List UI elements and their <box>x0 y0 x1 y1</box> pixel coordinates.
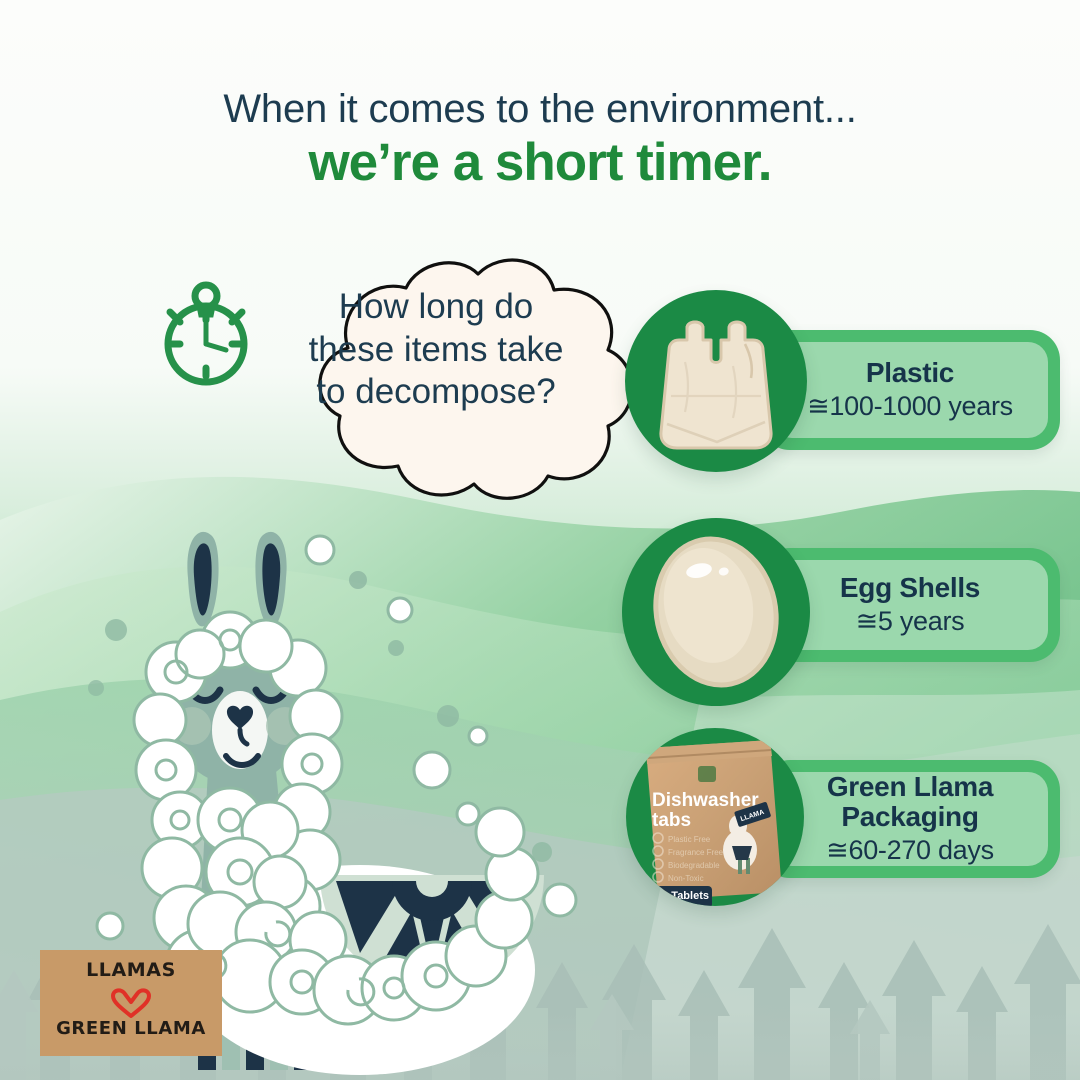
svg-text:Plastic Free: Plastic Free <box>668 835 711 844</box>
sign-text-top: LLAMAS <box>40 959 222 981</box>
svg-text:Fragrance Free: Fragrance Free <box>668 848 724 857</box>
infographic-canvas: When it comes to the environment... we’r… <box>0 0 1080 1080</box>
item-duration: ≅60-270 days <box>826 835 994 866</box>
bubble-line-2: these items take <box>236 329 636 372</box>
egg-icon <box>622 518 810 706</box>
dishwasher-tabs-pouch-icon: Dishwasher tabs Plastic Free Fragrance F… <box>626 728 804 906</box>
item-card-inner: Plastic ≅100-1000 years <box>772 342 1048 438</box>
item-title: Plastic <box>866 358 954 388</box>
thought-bubble: How long do these items take to decompos… <box>236 258 636 498</box>
thought-bubble-text: How long do these items take to decompos… <box>236 286 636 414</box>
item-title: Egg Shells <box>840 573 980 603</box>
svg-text:21.9 OZ / 625 G: 21.9 OZ / 625 G <box>656 903 692 906</box>
svg-text:Dishwasher: Dishwasher <box>652 790 759 811</box>
llamas-love-green-llama-sign: LLAMAS GREEN LLAMA <box>40 950 222 1056</box>
svg-text:tabs: tabs <box>652 810 691 831</box>
headline-line-2: we’re a short timer. <box>0 134 1080 191</box>
item-duration: ≅5 years <box>856 606 965 637</box>
svg-text:Non-Toxic: Non-Toxic <box>668 874 704 883</box>
bubble-line-1: How long do <box>236 286 636 329</box>
bubble-line-3: to decompose? <box>236 371 636 414</box>
headline-line-1: When it comes to the environment... <box>0 88 1080 130</box>
item-title-line-1: Green Llama <box>827 772 993 802</box>
stopwatch-icon <box>146 274 266 394</box>
item-duration: ≅100-1000 years <box>807 391 1013 422</box>
svg-text:40 Tablets: 40 Tablets <box>656 890 709 902</box>
item-card-inner: Egg Shells ≅5 years <box>772 560 1048 650</box>
plastic-bag-icon <box>625 290 807 472</box>
svg-text:Biodegradable: Biodegradable <box>668 861 720 870</box>
headline-block: When it comes to the environment... we’r… <box>0 88 1080 191</box>
heart-icon <box>109 986 153 1018</box>
item-card-green-llama-packaging[interactable]: Green Llama Packaging ≅60-270 days <box>760 760 1060 878</box>
item-title-line-2: Packaging <box>841 802 978 832</box>
item-card-inner: Green Llama Packaging ≅60-270 days <box>772 772 1048 866</box>
sign-text-bottom: GREEN LLAMA <box>40 1018 222 1039</box>
